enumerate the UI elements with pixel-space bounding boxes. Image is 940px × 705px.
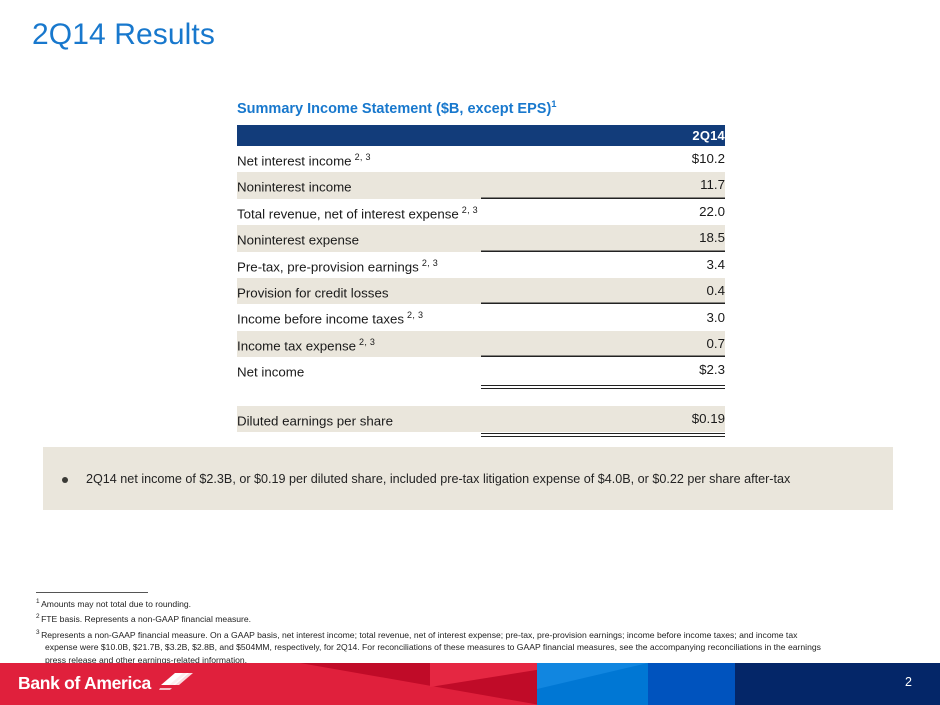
footer-banner: Bank of America 2 xyxy=(0,663,940,705)
row-label-superscript: 2, 3 xyxy=(404,310,423,320)
row-value: 0.4 xyxy=(481,278,725,304)
table-caption-text: Summary Income Statement ($B, except EPS… xyxy=(237,101,551,117)
row-label-text: Income tax expense xyxy=(237,338,356,353)
row-label: Diluted earnings per share xyxy=(237,406,481,432)
table-row: Net interest income2, 3 $10.2 xyxy=(237,146,725,172)
row-label-superscript: 2, 3 xyxy=(419,258,438,268)
footnote-1: 1Amounts may not total due to rounding. xyxy=(36,596,911,610)
logo-wordmark: Bank of America xyxy=(18,673,151,694)
summary-income-statement-block: Summary Income Statement ($B, except EPS… xyxy=(237,99,725,468)
table-row: Provision for credit losses 0.4 xyxy=(237,278,725,304)
row-label: Pre-tax, pre-provision earnings2, 3 xyxy=(237,252,481,278)
spacer-cell xyxy=(237,432,481,442)
table-row: Income before income taxes2, 3 3.0 xyxy=(237,304,725,330)
column-header-label xyxy=(237,125,481,146)
row-label-text: Pre-tax, pre-provision earnings xyxy=(237,259,419,274)
row-label: Net interest income2, 3 xyxy=(237,146,481,172)
row-value: 3.0 xyxy=(481,304,725,330)
table-row: Total revenue, net of interest expense2,… xyxy=(237,199,725,225)
row-label: Total revenue, net of interest expense2,… xyxy=(237,199,481,225)
table-row: Noninterest income 11.7 xyxy=(237,172,725,198)
callout-bullet-item: 2Q14 net income of $2.3B, or $0.19 per d… xyxy=(62,471,790,487)
bullet-point-icon xyxy=(62,477,68,483)
row-label-text: Total revenue, net of interest expense xyxy=(237,206,459,221)
row-label-superscript: 2, 3 xyxy=(459,205,478,215)
bank-of-america-logo: Bank of America xyxy=(18,671,193,696)
row-value: 11.7 xyxy=(481,172,725,198)
page-title: 2Q14 Results xyxy=(32,18,215,52)
row-label: Income tax expense2, 3 xyxy=(237,331,481,357)
row-label-text: Noninterest expense xyxy=(237,233,359,248)
banner-chevron-blue-accent xyxy=(537,663,648,689)
table-caption: Summary Income Statement ($B, except EPS… xyxy=(237,99,725,117)
row-label-superscript: 2, 3 xyxy=(352,152,371,162)
row-label-superscript xyxy=(359,231,362,241)
table-body-main: Net interest income2, 3 $10.2 Noninteres… xyxy=(237,146,725,469)
footnote-text: FTE basis. Represents a non-GAAP financi… xyxy=(41,614,251,624)
table-row: Income tax expense2, 3 0.7 xyxy=(237,331,725,357)
highlight-callout-box: 2Q14 net income of $2.3B, or $0.19 per d… xyxy=(43,447,893,510)
row-label-superscript xyxy=(389,284,392,294)
row-label-superscript xyxy=(352,178,355,188)
row-value: 0.7 xyxy=(481,331,725,357)
table-row: Diluted earnings per share $0.19 xyxy=(237,406,725,432)
footnote-3: 3Represents a non-GAAP financial measure… xyxy=(36,627,911,641)
footnote-text: Represents a non-GAAP financial measure.… xyxy=(41,630,797,640)
row-label-text: Net interest income xyxy=(237,153,352,168)
row-label: Noninterest expense xyxy=(237,225,481,251)
row-value: $10.2 xyxy=(481,146,725,172)
banner-band-blue-mid xyxy=(648,663,735,705)
spacer-cell xyxy=(237,384,481,406)
row-label-text: Diluted earnings per share xyxy=(237,413,393,428)
row-label-text: Income before income taxes xyxy=(237,312,404,327)
row-label-superscript xyxy=(304,363,307,373)
row-value: $2.3 xyxy=(481,357,725,383)
row-label: Noninterest income xyxy=(237,172,481,198)
row-value: 22.0 xyxy=(481,199,725,225)
footnote-3-line-2: expense were $10.0B, $21.7B, $3.2B, $2.8… xyxy=(36,642,911,654)
table-row: Noninterest expense 18.5 xyxy=(237,225,725,251)
callout-bullet-text: 2Q14 net income of $2.3B, or $0.19 per d… xyxy=(86,471,790,487)
footnotes-section: 1Amounts may not total due to rounding. … xyxy=(36,592,911,668)
table-row: Pre-tax, pre-provision earnings2, 3 3.4 xyxy=(237,252,725,278)
table-caption-superscript: 1 xyxy=(551,99,557,110)
column-header-2q14: 2Q14 xyxy=(481,125,725,146)
flagscape-icon xyxy=(159,669,193,696)
row-label-text: Net income xyxy=(237,365,304,380)
footnote-text: Amounts may not total due to rounding. xyxy=(41,599,191,609)
page-number: 2 xyxy=(905,675,912,689)
row-value: 18.5 xyxy=(481,225,725,251)
row-value: 3.4 xyxy=(481,252,725,278)
row-label-superscript xyxy=(393,412,396,422)
table-row: Net income $2.3 xyxy=(237,357,725,383)
row-value: $0.19 xyxy=(481,406,725,432)
footnote-divider xyxy=(36,592,148,593)
row-label: Provision for credit losses xyxy=(237,278,481,304)
table-header-row: 2Q14 xyxy=(237,125,725,146)
row-label-text: Noninterest income xyxy=(237,180,352,195)
row-label-text: Provision for credit losses xyxy=(237,285,389,300)
row-label-superscript: 2, 3 xyxy=(356,337,375,347)
footnote-2: 2FTE basis. Represents a non-GAAP financ… xyxy=(36,611,911,625)
row-label: Net income xyxy=(237,357,481,383)
income-statement-table: 2Q14 Net interest income2, 3 $10.2 Nonin… xyxy=(237,125,725,469)
row-label: Income before income taxes2, 3 xyxy=(237,304,481,330)
